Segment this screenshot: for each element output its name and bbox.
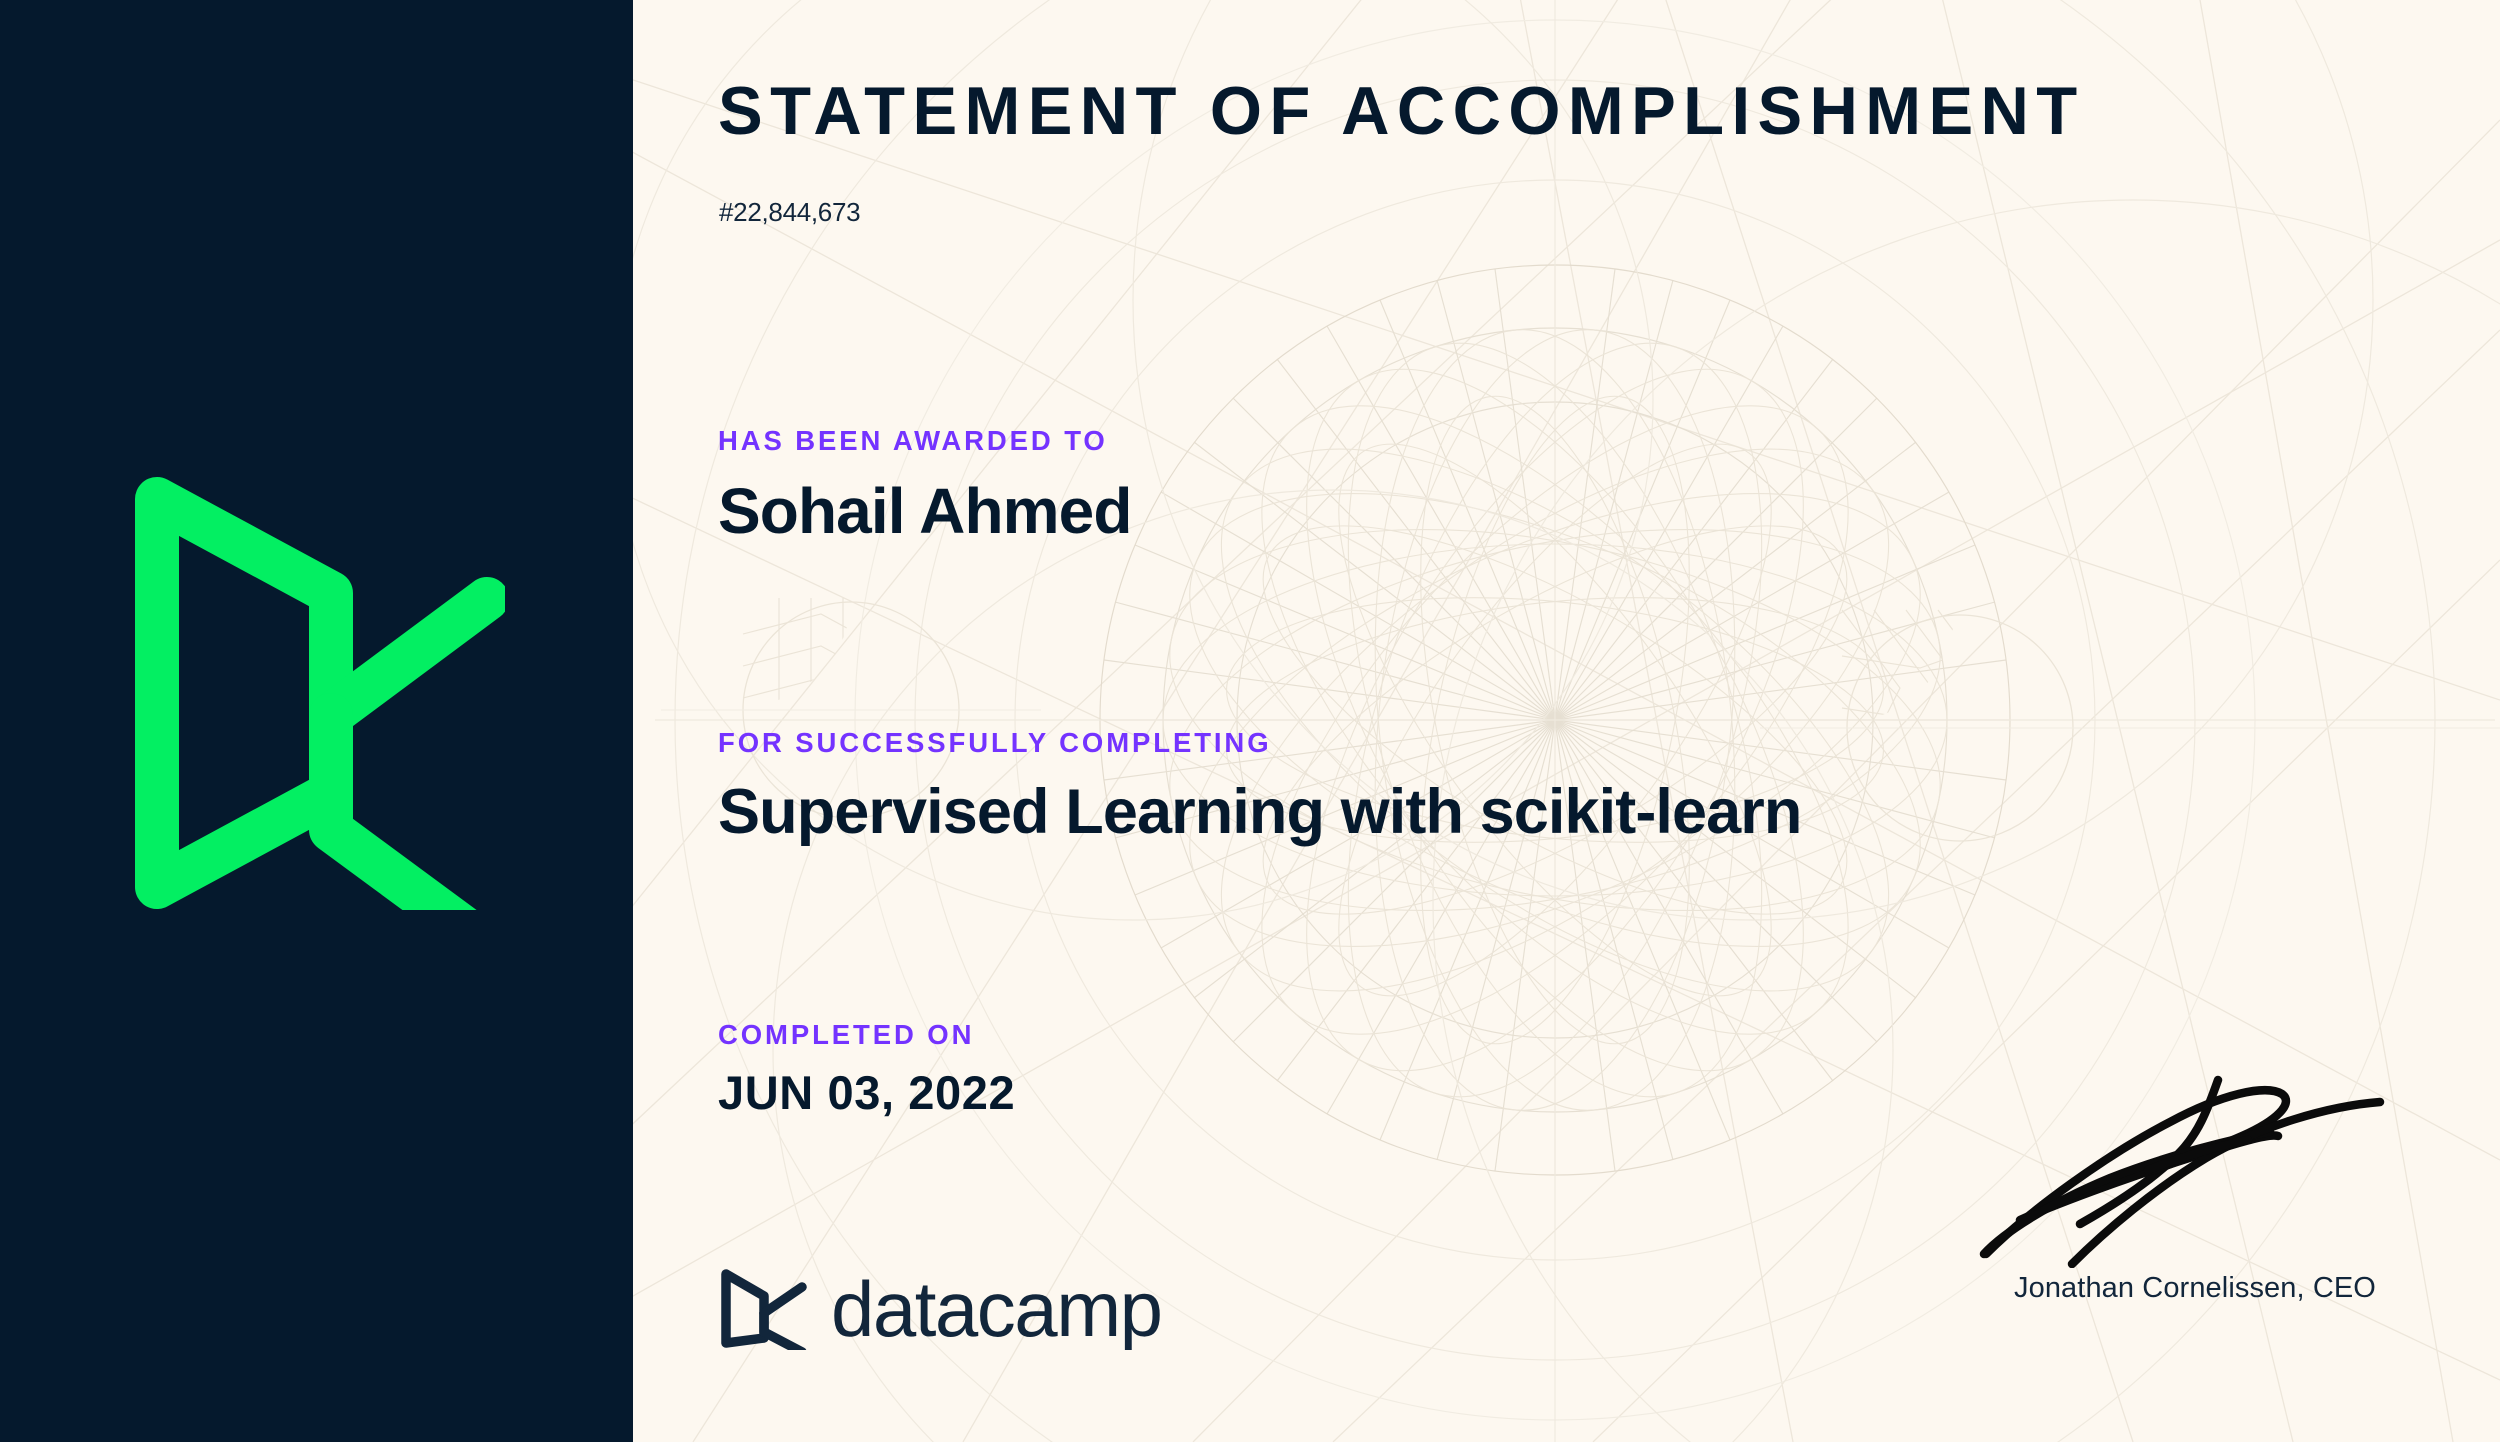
signature-block: Jonathan Cornelissen, CEO (1960, 1058, 2430, 1305)
completed-on-label: COMPLETED ON (718, 1019, 1015, 1051)
course-label: FOR SUCCESSFULLY COMPLETING (718, 727, 1802, 759)
datacamp-logo: datacamp (718, 1268, 1208, 1350)
completion-date-field: COMPLETED ON JUN 03, 2022 (718, 1019, 1015, 1120)
course-field: FOR SUCCESSFULLY COMPLETING Supervised L… (718, 727, 1802, 848)
awarded-to-label: HAS BEEN AWARDED TO (718, 425, 1132, 457)
handwritten-signature-icon (1960, 1058, 2390, 1268)
recipient-name: Sohail Ahmed (718, 474, 1132, 548)
svg-text:datacamp: datacamp (831, 1268, 1162, 1350)
page-title: STATEMENT OF ACCOMPLISHMENT (718, 72, 2373, 150)
certificate-id: #22,844,673 (719, 197, 860, 228)
awarded-to-field: HAS BEEN AWARDED TO Sohail Ahmed (718, 425, 1132, 548)
completion-date: JUN 03, 2022 (718, 1065, 1015, 1120)
certificate: STATEMENT OF ACCOMPLISHMENT #22,844,673 … (0, 0, 2500, 1442)
signatory-name: Jonathan Cornelissen, CEO (1960, 1272, 2430, 1305)
course-name: Supervised Learning with scikit-learn (718, 776, 1802, 848)
